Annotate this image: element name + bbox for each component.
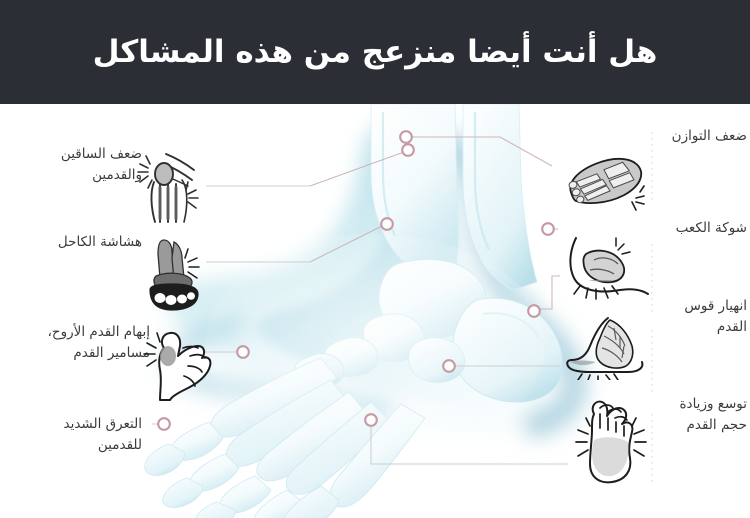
label-line-2: للقدمين: [14, 435, 142, 456]
pain-spark-icon: [632, 186, 644, 210]
pain-spark-icon: [574, 286, 618, 299]
heel-spur-icon: [560, 232, 650, 304]
ankle-bones-icon: [140, 236, 212, 314]
label-line-2: مسامير القدم: [14, 343, 150, 364]
pain-spark-icon: [185, 249, 199, 278]
label-line-1: هشاشة الكاحل: [14, 232, 142, 253]
header-banner: هل أنت أيضا منزعج من هذه المشاكل: [0, 0, 750, 104]
label-line-1: إبهام القدم الأروح،: [14, 322, 150, 343]
knee-joint-pain-icon: [136, 148, 210, 228]
pain-spark-icon: [578, 374, 618, 380]
label-ankle-fragility: هشاشة الكاحل: [14, 232, 142, 253]
widened-foot-icon: [566, 400, 658, 486]
label-line-1: التعرق الشديد: [14, 414, 142, 435]
label-line-1: ضعف التوازن: [629, 126, 747, 147]
xray-glow: [205, 234, 545, 454]
bunion-foot-icon: [140, 326, 218, 402]
label-excessive-sweating: التعرق الشديد للقدمين: [14, 414, 142, 456]
label-leg-foot-weakness: ضعف الساقين والقدمين: [14, 144, 142, 186]
page-title: هل أنت أيضا منزعج من هذه المشاكل: [93, 34, 658, 70]
bunion-bump: [160, 346, 176, 366]
flat-foot-arch-icon: [562, 314, 654, 380]
label-line-1: ضعف الساقين: [14, 144, 142, 165]
infographic-page: هل أنت أيضا منزعج من هذه المشاكل: [0, 0, 750, 518]
diagram-stage: ضعف الساقين والقدمين هشاشة الكاحل إبهام …: [0, 104, 750, 518]
label-line-2: والقدمين: [14, 165, 142, 186]
label-poor-balance: ضعف التوازن: [629, 126, 747, 147]
pain-spark-icon: [138, 156, 152, 188]
pain-spark-icon: [144, 333, 160, 366]
foot-skeleton-top-icon: [562, 152, 648, 216]
label-bunion-corns: إبهام القدم الأروح، مسامير القدم: [14, 322, 150, 364]
